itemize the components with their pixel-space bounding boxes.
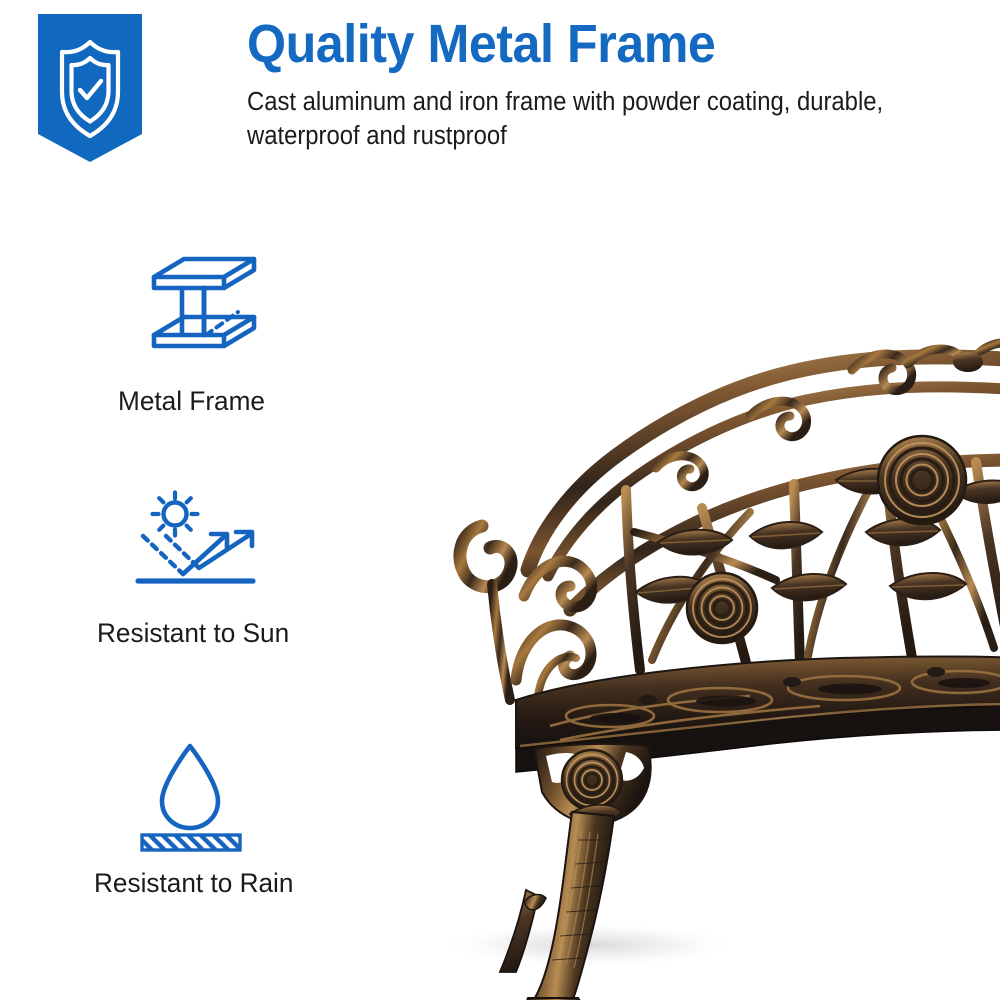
- shield-check-badge-icon: [38, 14, 142, 162]
- product-infographic: Quality Metal Frame Cast aluminum and ir…: [0, 0, 1000, 1000]
- feature-metal-frame-label: Metal Frame: [118, 386, 265, 417]
- feature-resistant-to-sun-label: Resistant to Sun: [97, 618, 289, 649]
- feature-resistant-to-rain-label: Resistant to Rain: [94, 868, 293, 899]
- product-image-bench: [420, 140, 1000, 1000]
- page-title: Quality Metal Frame: [247, 16, 898, 72]
- i-beam-icon: [142, 252, 266, 360]
- water-drop-icon: [128, 740, 258, 852]
- sun-reflect-icon: [125, 490, 265, 600]
